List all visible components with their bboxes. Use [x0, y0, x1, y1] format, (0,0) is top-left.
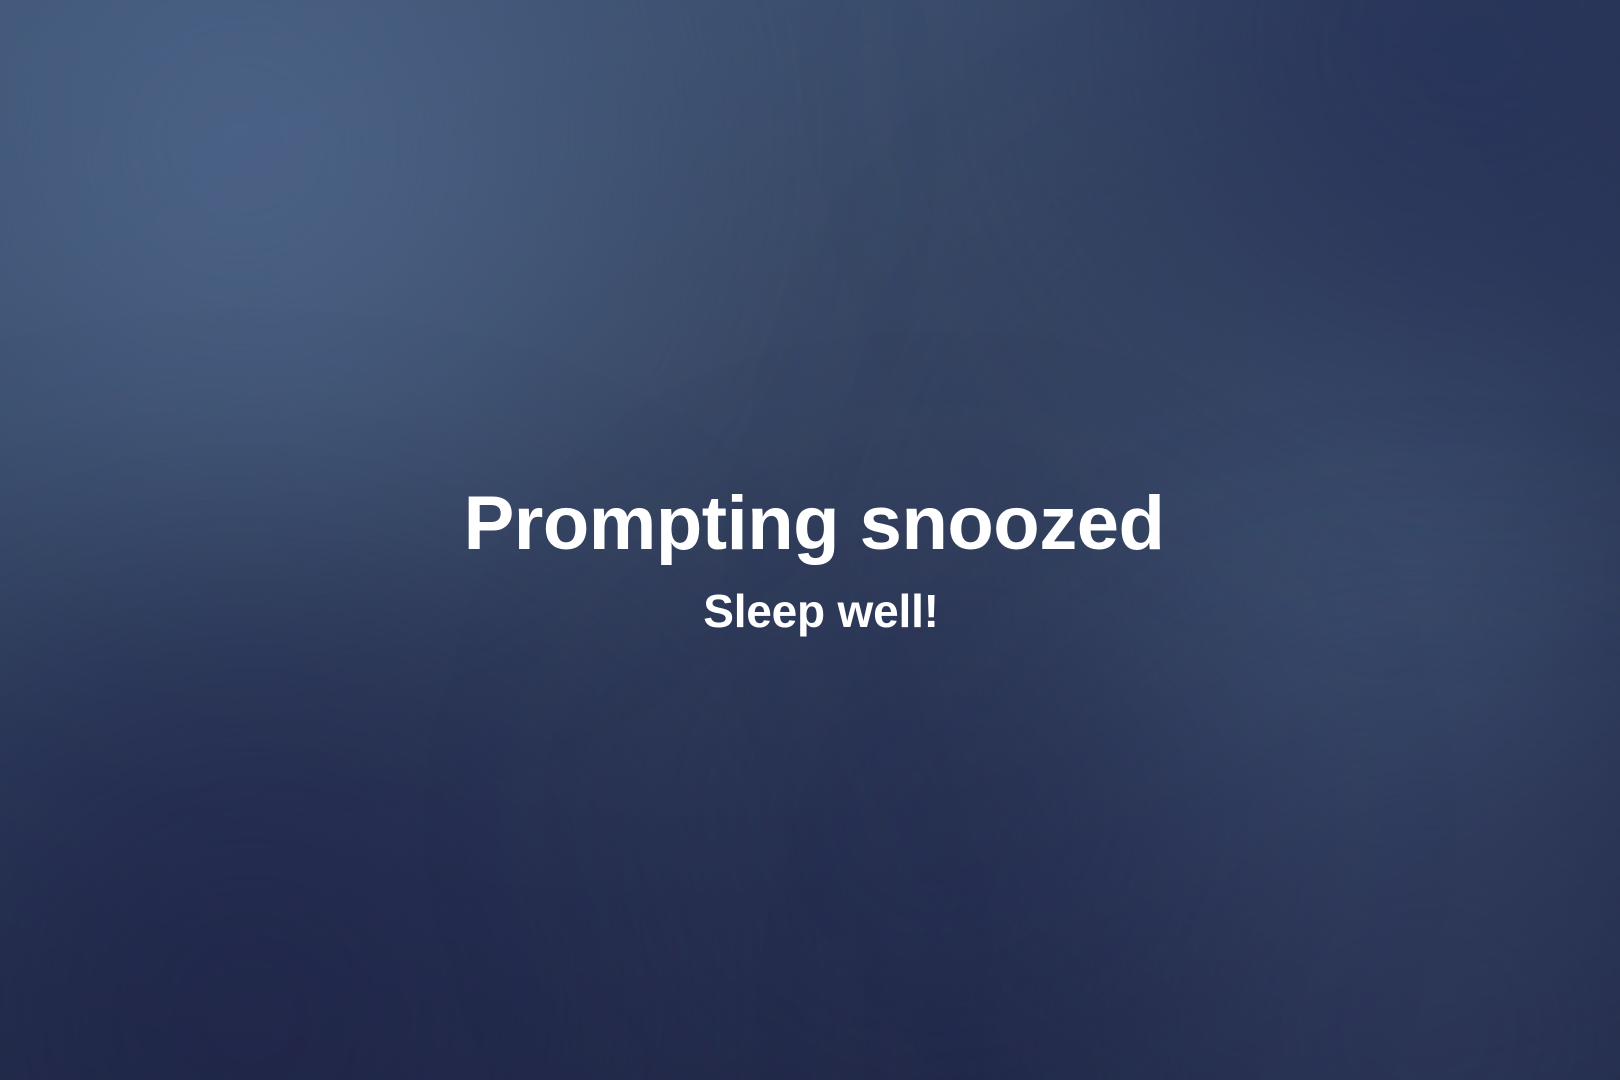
- status-message-block: Prompting snoozed Sleep well!: [0, 486, 1620, 634]
- status-subheadline: Sleep well!: [681, 588, 939, 634]
- status-headline: Prompting snoozed: [456, 486, 1165, 562]
- screen-root: Prompting snoozed Sleep well!: [0, 0, 1620, 1080]
